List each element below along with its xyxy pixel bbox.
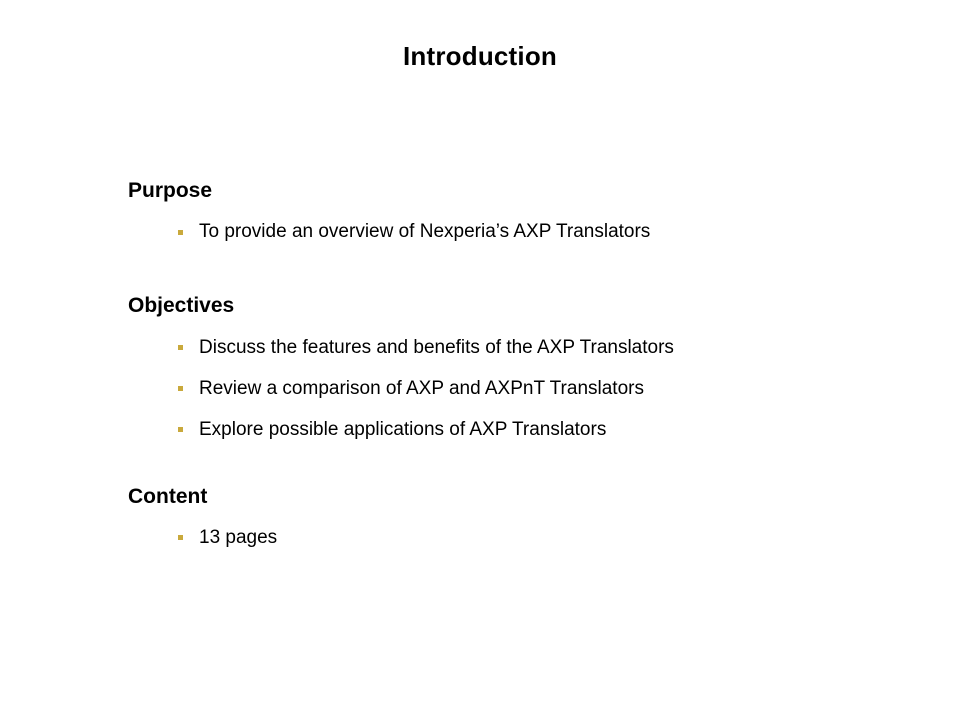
bullet-list-content: 13 pages <box>128 528 888 547</box>
list-item: 13 pages <box>128 528 888 547</box>
page-title: Introduction <box>0 42 960 72</box>
section-heading-purpose: Purpose <box>128 178 888 204</box>
spacer <box>128 398 888 420</box>
list-item: Review a comparison of AXP and AXPnT Tra… <box>128 379 888 398</box>
section-content: Content 13 pages <box>128 484 888 547</box>
list-item: Discuss the features and benefits of the… <box>128 338 888 357</box>
square-bullet-icon <box>178 427 183 432</box>
spacer <box>128 241 888 293</box>
section-heading-content: Content <box>128 484 888 510</box>
bullet-list-objectives: Discuss the features and benefits of the… <box>128 338 888 439</box>
list-item-label: Discuss the features and benefits of the… <box>199 338 674 357</box>
spacer <box>128 439 888 484</box>
section-objectives: Objectives Discuss the features and bene… <box>128 293 888 438</box>
list-item-label: Review a comparison of AXP and AXPnT Tra… <box>199 379 644 398</box>
square-bullet-icon <box>178 345 183 350</box>
list-item-label: To provide an overview of Nexperia’s AXP… <box>199 222 650 241</box>
list-item: To provide an overview of Nexperia’s AXP… <box>128 222 888 241</box>
spacer <box>128 204 888 222</box>
section-heading-objectives: Objectives <box>128 293 888 319</box>
square-bullet-icon <box>178 230 183 235</box>
list-item-label: 13 pages <box>199 528 277 547</box>
list-item: Explore possible applications of AXP Tra… <box>128 420 888 439</box>
bullet-list-purpose: To provide an overview of Nexperia’s AXP… <box>128 222 888 241</box>
list-item-label: Explore possible applications of AXP Tra… <box>199 420 606 439</box>
spacer <box>128 510 888 528</box>
slide-body: Purpose To provide an overview of Nexper… <box>128 178 888 547</box>
section-purpose: Purpose To provide an overview of Nexper… <box>128 178 888 241</box>
presentation-slide: Introduction Purpose To provide an overv… <box>0 0 960 720</box>
spacer <box>128 320 888 338</box>
square-bullet-icon <box>178 535 183 540</box>
spacer <box>128 357 888 379</box>
square-bullet-icon <box>178 386 183 391</box>
